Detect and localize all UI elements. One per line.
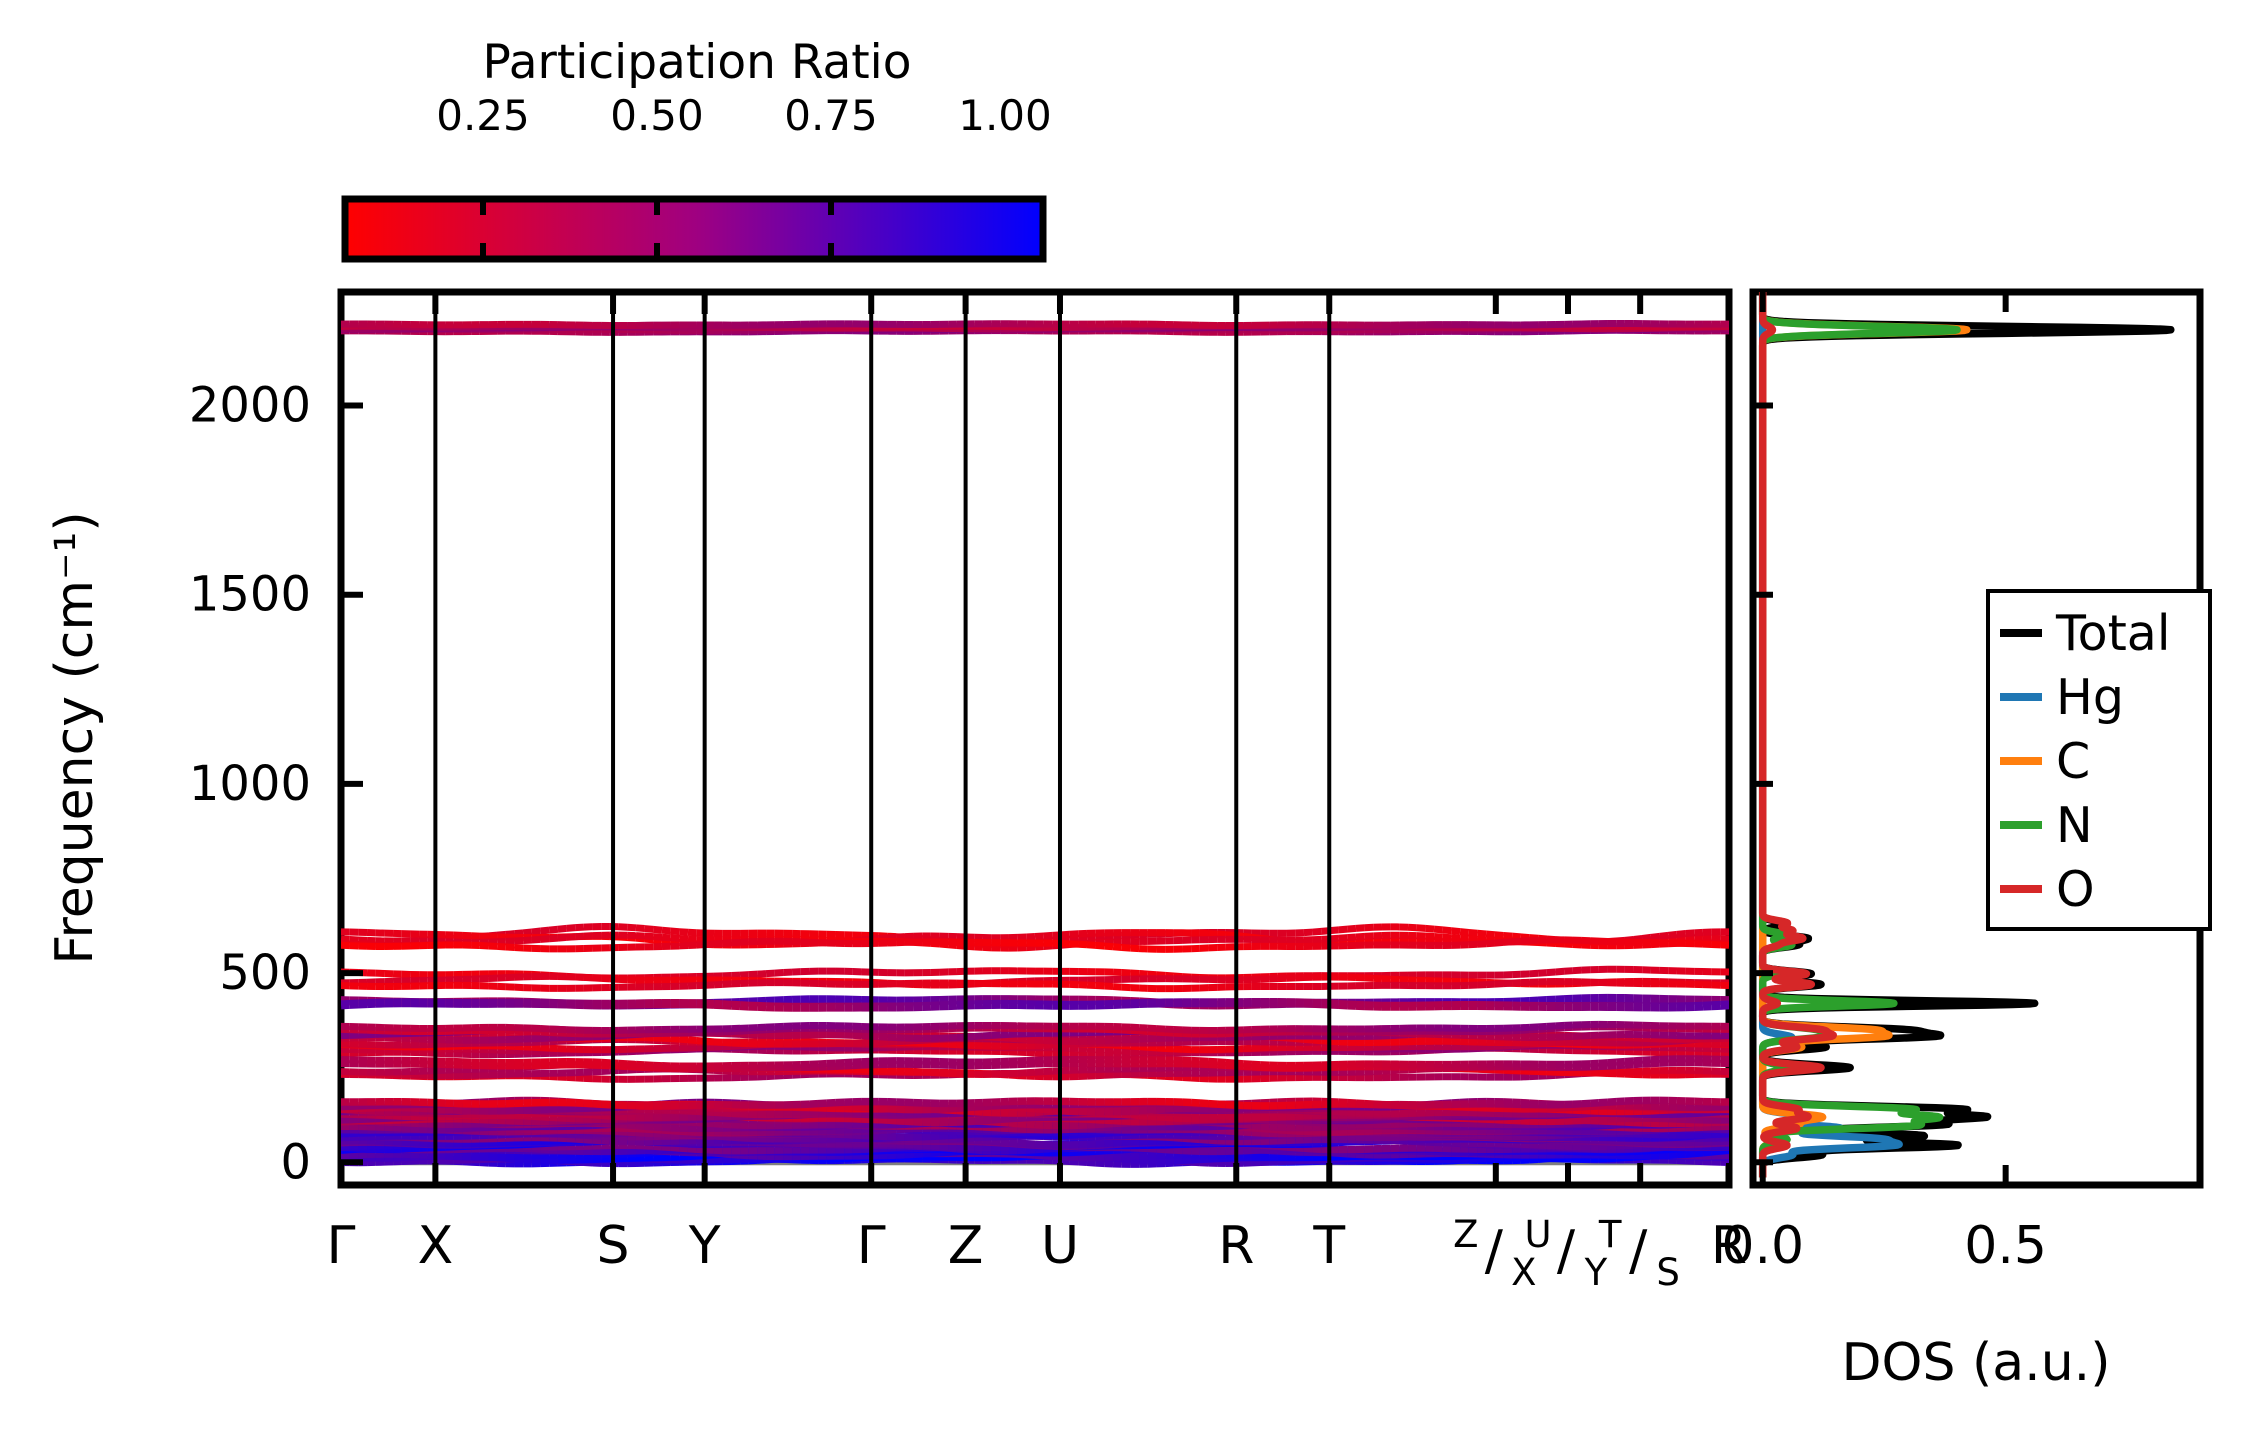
band-line-segment [1486,943,1495,944]
band-line-segment [1139,973,1148,974]
band-line-segment [775,973,784,974]
band-line-segment [731,942,740,943]
band-line-segment [1148,1047,1157,1048]
band-line-segment [1356,928,1365,929]
band-line-segment [506,947,515,948]
band-line-segment [679,932,688,933]
band-line-segment [619,1063,628,1064]
band-line-segment [1226,935,1235,936]
band-line-segment [1148,974,1157,975]
band-line-segment [558,928,567,929]
band-line-segment [688,1040,697,1041]
band-line-segment [1087,937,1096,938]
band-line-segment [1608,1062,1617,1063]
band-line-segment [541,939,550,940]
band-line-segment [671,1039,680,1040]
band-line-segment [1503,983,1512,984]
band-line-segment [974,947,983,948]
band-structure-panel: 0500100015002000 ΓXSYΓZURTZ/XU/YT/SR Fre… [45,292,1747,1294]
band-line-segment [1313,1040,1322,1041]
phonon-figure-svg: Participation Ratio 0.25 0.50 0.75 1.00 … [0,0,2259,1455]
band-line-segment [627,1064,636,1065]
band-line-segment [1634,1064,1643,1065]
band-line-segment [1009,1038,1018,1039]
band-line-segment [1182,1078,1191,1079]
band-line-segment [1564,971,1573,972]
band-line-segment [1512,936,1521,937]
band-line-segment [1486,934,1495,935]
band-line-segment [575,927,584,928]
band-line-segment [1156,1029,1165,1030]
band-line-segment [1616,1061,1625,1062]
band-line-segment [1226,1062,1235,1063]
band-line-segment [645,936,654,937]
band-line-segment [567,928,576,929]
band-line-segment [1035,1053,1044,1054]
band-line-segment [1061,934,1070,935]
band-line-segment [1026,1039,1035,1040]
band-line-segment [1339,929,1348,930]
figure-canvas: Participation Ratio 0.25 0.50 0.75 1.00 … [0,0,2259,1455]
band-line-segment [636,928,645,929]
band-line-segment [1078,944,1087,945]
band-line-segment [636,1064,645,1065]
band-line-segment [645,929,654,930]
band-line-segment [1078,1162,1087,1163]
colorbar-tick-label-3: 1.00 [958,91,1052,140]
band-line-segment [671,938,680,939]
band-line-segment [1425,936,1434,937]
band-line-segment [1599,1063,1608,1064]
band-line-segment [593,978,602,979]
colorbar-tick-label-0: 0.25 [436,91,530,140]
band-line-segment [549,938,558,939]
band-line-segment [436,939,445,940]
band-line-segment [1148,1028,1157,1029]
band-line-segment [1122,947,1131,948]
band-line-segment [1209,1061,1218,1062]
band-line-segment [1634,1060,1643,1061]
band-line-segment [1503,942,1512,943]
band-line-segment [1477,944,1486,945]
band-line-segment [1070,938,1079,939]
band-line-segment [1217,934,1226,935]
band-line-segment [679,939,688,940]
band-line-segment [914,1071,923,1072]
band-line-segment [1668,934,1677,935]
band-line-segment [1104,1050,1113,1051]
band-line-segment [1451,938,1460,939]
band-line-segment [1018,1073,1027,1074]
band-line-segment [1113,947,1122,948]
band-line-segment [1096,945,1105,946]
colorbar-gradient [345,199,1043,259]
band-line-segment [1660,935,1669,936]
band-line-segment [1174,1077,1183,1078]
band-line-segment [1642,937,1651,938]
band-line-segment [1035,1040,1044,1041]
band-line-segment [1217,1062,1226,1063]
band-line-segment [1104,986,1113,987]
band-line-segment [940,1073,949,1074]
band-line-segment [896,937,905,938]
band-line-segment [1477,933,1486,934]
band-line-segment [541,930,550,931]
band-line-segment [1365,936,1374,937]
band-line-segment [1130,948,1139,949]
colorbar-title: Participation Ratio [482,35,911,90]
band-line-segment [1434,937,1443,938]
band-line-segment [662,937,671,938]
band-line-segment [1044,1071,1053,1072]
band-line-segment [1495,942,1504,943]
band-line-segment [1035,936,1044,937]
band-line-segment [1625,1065,1634,1066]
band-line-segment [523,940,532,941]
band-line-segment [974,1036,983,1037]
band-line-segment [1547,1026,1556,1027]
colorbar-tick-label-1: 0.50 [610,91,704,140]
band-line-segment [1104,946,1113,947]
band-line-segment [1677,934,1686,935]
band-line-segment [1347,928,1356,929]
band-line-segment [1070,1161,1079,1162]
band-line-segment [1529,973,1538,974]
band-line-segment [1564,944,1573,945]
band-line-segment [558,937,567,938]
band-line-segment [662,930,671,931]
band-line-segment [922,1072,931,1073]
band-line-segment [1026,1072,1035,1073]
band-line-segment [1651,936,1660,937]
band-line-segment [1087,945,1096,946]
band-line-segment [1122,987,1131,988]
band-line-segment [1495,935,1504,936]
band-line-segment [1642,1060,1651,1061]
band-line-segment [1556,971,1565,972]
band-line-segment [567,937,576,938]
band-line-segment [723,943,732,944]
band-line-segment [532,939,541,940]
band-line-segment [1087,1162,1096,1163]
band-line-segment [1347,937,1356,938]
band-line-segment [1018,1039,1027,1040]
band-line-segment [1556,944,1565,945]
band-line-segment [1443,930,1452,931]
band-line-segment [1156,1048,1165,1049]
band-line-segment [523,932,532,933]
band-line-segment [714,1042,723,1043]
band-line-segment [1512,941,1521,942]
colorbar-tick-label-2: 0.75 [784,91,878,140]
band-line-segment [1521,941,1530,942]
band-line-segment [653,937,662,938]
band-line-segment [1686,933,1695,934]
band-line-segment [532,931,541,932]
band-line-segment [1096,986,1105,987]
band-line-segment [1304,932,1313,933]
band-line-segment [888,937,897,938]
band-line-segment [679,1039,688,1040]
band-line-segment [1495,984,1504,985]
band-line-segment [1356,936,1365,937]
band-line-segment [1313,931,1322,932]
band-line-segment [1625,1061,1634,1062]
band-line-segment [1573,970,1582,971]
band-line-segment [549,929,558,930]
band-dispersion-curves [341,323,1729,1164]
band-line-segment [1113,987,1122,988]
band-line-segment [1443,937,1452,938]
band-line-segment [1339,938,1348,939]
band-line-segment [749,974,758,975]
band-line-segment [1469,932,1478,933]
band-line-segment [1425,928,1434,929]
band-line-segment [1460,932,1469,933]
band-line-segment [723,1042,732,1043]
band-line-segment [1417,928,1426,929]
band-line-segment [1503,935,1512,936]
band-line-segment [1243,1064,1252,1065]
band-line-segment [931,1072,940,1073]
band-line-segment [1469,939,1478,940]
band-line-segment [1044,935,1053,936]
band-line-segment [1130,973,1139,974]
band-line-segment [1078,938,1087,939]
band-line-segment [1451,931,1460,932]
band-line-segment [1035,947,1044,948]
band-line-segment [671,931,680,932]
band-line-segment [497,946,506,947]
band-line-segment [1538,973,1547,974]
band-line-segment [653,929,662,930]
band-line-segment [992,1035,1001,1036]
band-line-segment [515,933,524,934]
band-line-segment [1477,939,1486,940]
colorbar: Participation Ratio 0.25 0.50 0.75 1.00 [345,35,1052,259]
band-line-segment [757,974,766,975]
band-line-segment [1460,938,1469,939]
band-line-segment [575,936,584,937]
band-line-segment [1434,929,1443,930]
band-line-segment [983,1035,992,1036]
band-line-segment [1044,1053,1053,1054]
band-line-segment [1547,972,1556,973]
band-line-segment [1139,1047,1148,1048]
band-line-segment [1035,1072,1044,1073]
band-line-segment [714,943,723,944]
band-line-segment [627,927,636,928]
band-line-segment [766,973,775,974]
band-line-segment [1061,939,1070,940]
band-line-segment [1538,1026,1547,1027]
band-line-segment [1209,934,1218,935]
